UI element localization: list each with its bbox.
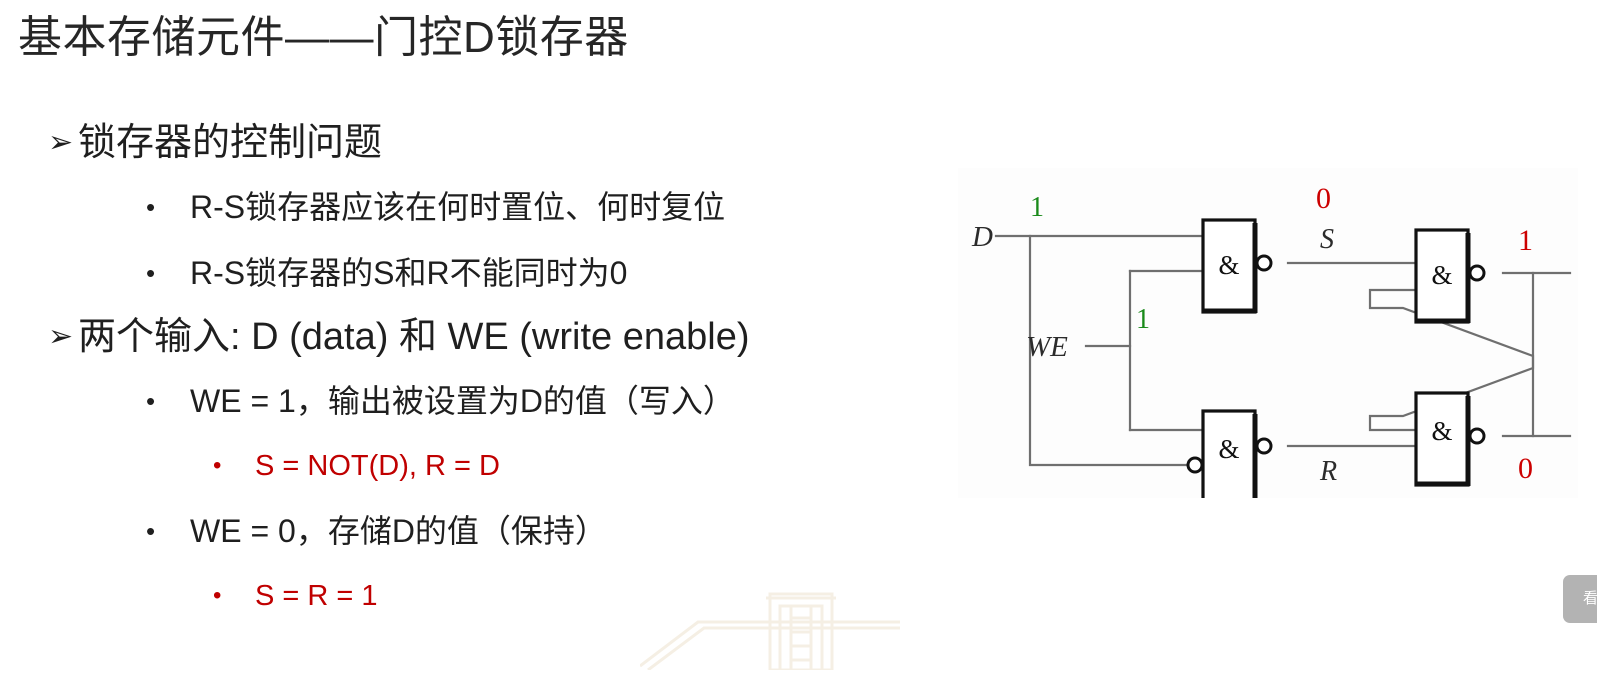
- gated-d-latch-circuit-diagram: & & & & D 1: [958, 168, 1578, 498]
- dot-bullet-icon: •: [146, 498, 155, 564]
- signal-value-we: 1: [1136, 304, 1150, 335]
- inversion-bubble-icon: [1470, 266, 1484, 280]
- dot-bullet-icon: •: [146, 240, 155, 306]
- nand-gate-top-right: &: [1416, 230, 1484, 323]
- outline-item-level2: • R-S锁存器的S和R不能同时为0: [0, 240, 950, 306]
- input-inversion-bubble-icon: [1188, 458, 1202, 472]
- dot-bullet-icon: •: [146, 174, 155, 240]
- signal-value-d: 1: [1030, 192, 1044, 223]
- nand-symbol-label: &: [1431, 260, 1452, 290]
- input-label-d: D: [971, 221, 993, 253]
- node-label-r: R: [1319, 456, 1337, 487]
- inversion-bubble-icon: [1257, 439, 1271, 453]
- outline-item-text: WE = 0，存储D的值（保持）: [190, 513, 607, 549]
- outline-item-text: WE = 1，输出被设置为D的值（写入）: [190, 383, 735, 419]
- signal-value-r: 1: [1320, 494, 1335, 498]
- outline-item-level2: • WE = 1，输出被设置为D的值（写入）: [0, 368, 950, 434]
- outline-item-text: R-S锁存器应该在何时置位、何时复位: [190, 189, 725, 225]
- arrow-bullet-icon: ➢: [48, 306, 73, 368]
- outline-item-level3: • S = NOT(D), R = D: [0, 434, 950, 498]
- dot-bullet-icon: •: [146, 368, 155, 434]
- outline-item-level3: • S = R = 1: [0, 564, 950, 628]
- dot-bullet-icon: •: [213, 564, 221, 628]
- outline-item-level1: ➢ 锁存器的控制问题: [0, 112, 950, 174]
- outline-item-level1: ➢ 两个输入: D (data) 和 WE (write enable): [0, 306, 950, 368]
- node-label-s: S: [1320, 224, 1334, 255]
- arrow-bullet-icon: ➢: [48, 112, 73, 174]
- inversion-bubble-icon: [1470, 429, 1484, 443]
- outline-item-text: 两个输入: D (data) 和 WE (write enable): [78, 316, 749, 358]
- nand-gate-top-left: &: [1203, 220, 1271, 313]
- nand-symbol-label: &: [1431, 416, 1452, 446]
- floating-corner-tab[interactable]: 看: [1563, 575, 1597, 623]
- inversion-bubble-icon: [1257, 256, 1271, 270]
- nand-symbol-label: &: [1218, 250, 1239, 280]
- nand-gate-bottom-right: &: [1416, 393, 1484, 486]
- outline-item-text: S = R = 1: [255, 580, 378, 612]
- outline-item-level2: • WE = 0，存储D的值（保持）: [0, 498, 950, 564]
- signal-value-s: 0: [1316, 182, 1331, 215]
- signal-value-q: 1: [1518, 224, 1533, 257]
- outline-item-text: 锁存器的控制问题: [78, 122, 382, 164]
- outline-item-level2: • R-S锁存器应该在何时置位、何时复位: [0, 174, 950, 240]
- signal-value-qbar: 0: [1518, 452, 1533, 485]
- page-title: 基本存储元件——门控D锁存器: [18, 8, 629, 68]
- outline-item-text: S = NOT(D), R = D: [255, 450, 500, 482]
- input-label-we: WE: [1026, 331, 1068, 363]
- nand-gate-bottom-left: &: [1188, 411, 1271, 498]
- slide-body-outline: ➢ 锁存器的控制问题 • R-S锁存器应该在何时置位、何时复位 • R-S锁存器…: [0, 112, 950, 628]
- dot-bullet-icon: •: [213, 434, 221, 498]
- nand-symbol-label: &: [1218, 434, 1239, 464]
- outline-item-text: R-S锁存器的S和R不能同时为0: [190, 255, 627, 291]
